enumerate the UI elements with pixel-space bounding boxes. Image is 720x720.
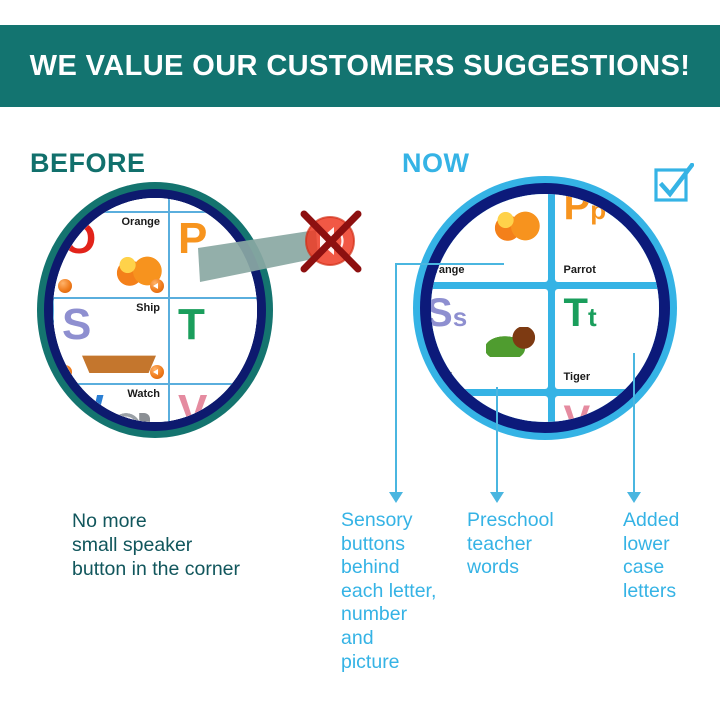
letter-card-tt: Tt Tiger [555, 289, 671, 389]
letter-card-ww: Ww [420, 396, 548, 433]
letter-glyph-group: Ss [426, 293, 467, 333]
leader-arrow-lowercase [627, 492, 641, 503]
word-label: Orange [121, 216, 160, 228]
banner-title: WE VALUE OUR CUSTOMERS SUGGESTIONS! [30, 50, 691, 83]
tiger-picture [256, 345, 266, 375]
lowercase-letter: s [453, 302, 467, 332]
letter-card-s: S Ship [53, 298, 169, 384]
now-caption-lowercase-letters: Added lower case letters [623, 509, 713, 603]
uppercase-letter: S [426, 291, 453, 335]
uppercase-letter: T [564, 291, 588, 335]
lowercase-letter: o [457, 195, 473, 225]
letter-card-vv: Vv [555, 396, 671, 433]
leader-arrow-preschool [490, 492, 504, 503]
now-lens-content: Oo Orange Pp Parrot Ss [431, 194, 659, 422]
lowercase-letter: p [590, 195, 606, 225]
speaker-icon[interactable] [58, 365, 72, 379]
now-learning-board: Oo Orange Pp Parrot Ss [420, 183, 670, 433]
letter-card-ss: Ss Snail [420, 289, 548, 389]
letter-glyph: V [178, 389, 207, 431]
uppercase-letter: P [564, 184, 591, 228]
ship-sails [90, 319, 150, 357]
ship-picture [82, 315, 156, 373]
letter-glyph: W [62, 389, 104, 431]
infographic-canvas: WE VALUE OUR CUSTOMERS SUGGESTIONS! BEFO… [0, 0, 720, 720]
lowercase-letter: w [464, 409, 484, 433]
magnifier-cone [198, 230, 318, 282]
leader-arrow-sensory [389, 492, 403, 503]
speaker-icon[interactable] [150, 365, 164, 379]
letter-glyph-group: Tt [564, 293, 597, 333]
letter-glyph-group: Pp [564, 186, 607, 226]
word-label: Tiger [564, 371, 591, 383]
before-caption: No more small speaker button in the corn… [72, 510, 372, 581]
word-label: Watch [127, 388, 160, 400]
uppercase-letter: V [564, 398, 591, 433]
checkbox-checked-icon [654, 163, 694, 203]
lowercase-letter: v [590, 409, 604, 433]
letter-card-o: O Orange [53, 212, 169, 298]
before-section-label: BEFORE [30, 148, 146, 179]
letter-glyph-group: Vv [564, 400, 605, 433]
decorative-art [58, 189, 80, 201]
lowercase-letter: t [588, 302, 597, 332]
word-label: Parrot [564, 264, 596, 276]
letter-glyph: O [62, 217, 96, 261]
speaker-icon[interactable] [150, 279, 164, 293]
now-caption-preschool-words: Preschool teacher words [467, 509, 577, 580]
letter-card-v: V [169, 384, 266, 431]
word-label: Snail [426, 371, 452, 383]
snail-picture [486, 327, 540, 357]
watch-picture [496, 426, 544, 433]
now-caption-sensory-buttons: Sensory buttons behind each letter, numb… [341, 509, 437, 674]
speaker-callout-group [196, 186, 396, 316]
watch-picture [102, 413, 150, 431]
speaker-icon[interactable] [58, 279, 72, 293]
word-label: Orange [426, 264, 465, 276]
uppercase-letter: W [426, 398, 464, 433]
letter-card-pp: Pp Parrot [555, 183, 671, 282]
now-section-label: NOW [402, 148, 469, 179]
letter-glyph: S [62, 303, 91, 347]
header-banner: WE VALUE OUR CUSTOMERS SUGGESTIONS! [0, 25, 720, 107]
table-row [53, 189, 169, 212]
orange-picture [490, 204, 542, 244]
letter-glyph-group: Ww [426, 400, 484, 433]
now-magnifier-lens: Oo Orange Pp Parrot Ss [420, 183, 670, 433]
letter-glyph-group: Oo [426, 186, 473, 226]
now-board-grid: Oo Orange Pp Parrot Ss [420, 183, 670, 433]
letter-card-w: W Watch [53, 384, 169, 431]
word-label: Ship [136, 302, 160, 314]
uppercase-letter: O [426, 184, 457, 228]
letter-card-oo: Oo Orange [420, 183, 548, 282]
